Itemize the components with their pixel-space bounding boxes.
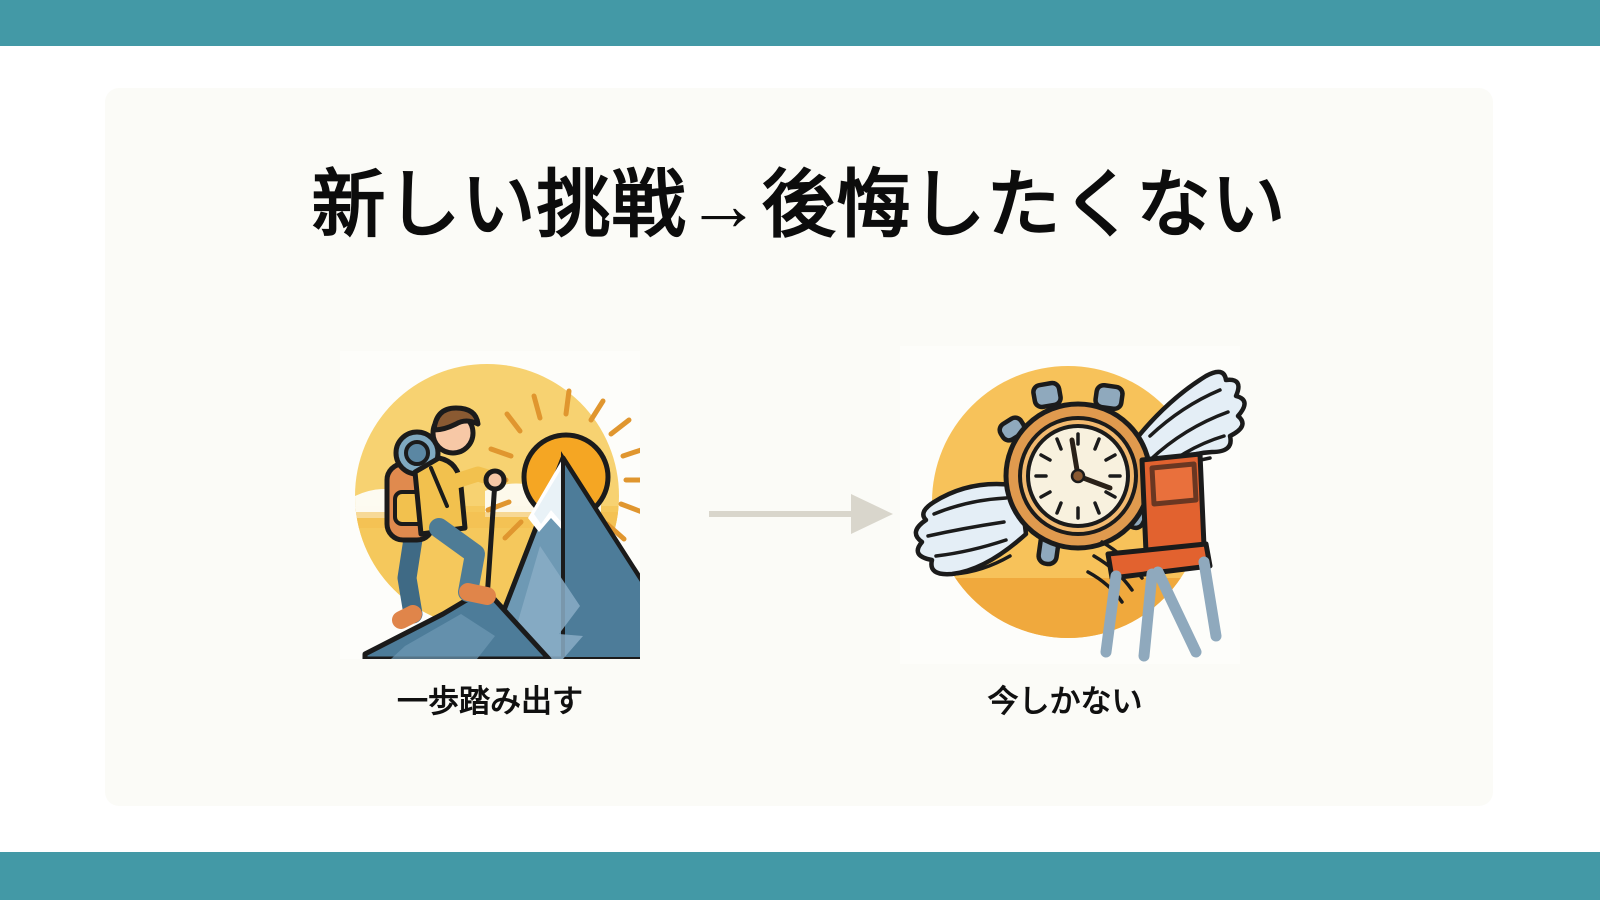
winged-clock-chair-illustration bbox=[900, 346, 1240, 664]
bottom-accent-band bbox=[0, 852, 1600, 900]
slide-stage: 新しい挑戦→後悔したくない bbox=[0, 46, 1600, 852]
top-accent-band bbox=[0, 0, 1600, 46]
hiker-mountain-illustration bbox=[335, 346, 645, 664]
panel-caption-left: 一歩踏み出す bbox=[295, 676, 685, 721]
panel-step-forward: 一歩踏み出す bbox=[325, 346, 655, 746]
panels-row: 一歩踏み出す bbox=[105, 346, 1493, 746]
content-card: 新しい挑戦→後悔したくない bbox=[105, 88, 1493, 806]
panel-now-or-never: 今しかない bbox=[900, 346, 1230, 746]
page-title: 新しい挑戦→後悔したくない bbox=[105, 166, 1493, 244]
right-arrow-icon bbox=[705, 484, 900, 544]
panel-caption-right: 今しかない bbox=[870, 676, 1260, 721]
